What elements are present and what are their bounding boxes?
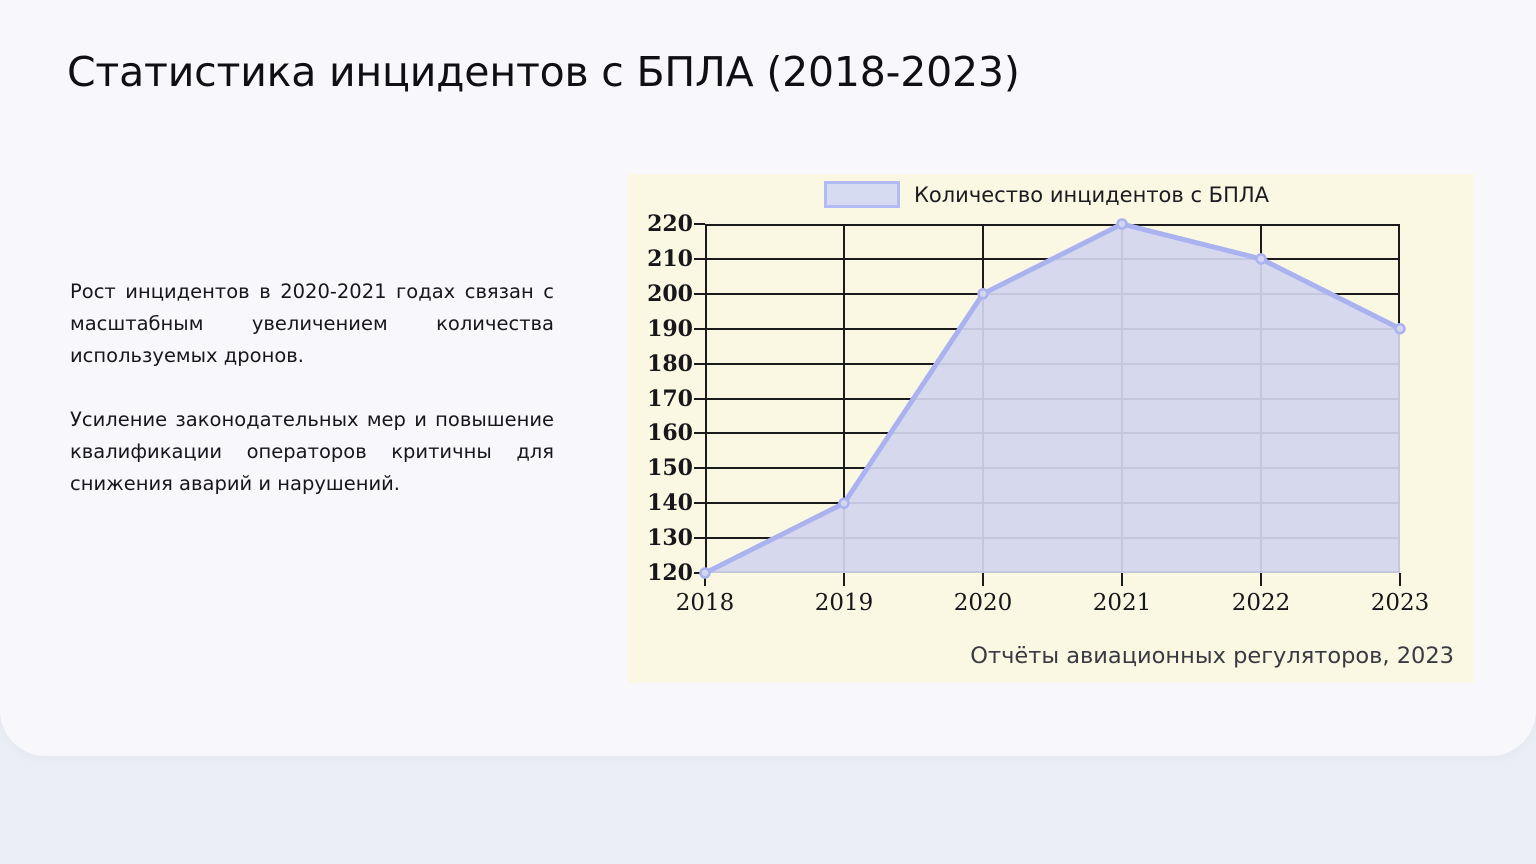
x-axis-tick-mark <box>1260 573 1262 586</box>
x-axis-tick-mark <box>1121 573 1123 586</box>
x-axis-tick-label: 2018 <box>676 590 735 616</box>
series-data-point <box>979 289 988 298</box>
x-axis-tick-label: 2021 <box>1093 590 1152 616</box>
y-axis-tick-mark <box>694 398 705 400</box>
y-axis-tick-mark <box>694 363 705 365</box>
series-data-point <box>1118 220 1127 229</box>
x-axis-tick-mark <box>982 573 984 586</box>
y-axis-tick-mark <box>694 293 705 295</box>
series-data-point <box>840 499 849 508</box>
y-axis-tick-mark <box>694 223 705 225</box>
chart-panel: Количество инцидентов с БПЛА 12013014015… <box>628 174 1474 683</box>
x-axis-tick-label: 2020 <box>954 590 1013 616</box>
y-axis-tick-mark <box>694 502 705 504</box>
chart-plot-area: 1201301401501601701801902002102202018201… <box>705 224 1400 573</box>
body-text-column: Рост инцидентов в 2020-2021 годах связан… <box>70 276 554 500</box>
y-axis-tick-mark <box>694 432 705 434</box>
chart-legend: Количество инцидентов с БПЛА <box>824 181 1269 208</box>
legend-label: Количество инцидентов с БПЛА <box>914 183 1269 207</box>
x-axis-tick-label: 2023 <box>1371 590 1430 616</box>
series-data-point <box>1396 324 1405 333</box>
x-axis-tick-mark <box>1399 573 1401 586</box>
chart-source-caption: Отчёты авиационных регуляторов, 2023 <box>970 643 1454 669</box>
y-axis-tick-mark <box>694 258 705 260</box>
body-paragraph-2: Усиление законодательных мер и повышение… <box>70 404 554 500</box>
slide-root: Статистика инцидентов с БПЛА (2018-2023)… <box>0 0 1536 864</box>
series-data-point <box>701 569 710 578</box>
series-data-point <box>1257 254 1266 263</box>
body-paragraph-1: Рост инцидентов в 2020-2021 годах связан… <box>70 276 554 372</box>
legend-swatch-icon <box>824 181 900 208</box>
x-axis-tick-mark <box>843 573 845 586</box>
y-axis-tick-mark <box>694 328 705 330</box>
x-axis-tick-label: 2019 <box>815 590 874 616</box>
page-title: Статистика инцидентов с БПЛА (2018-2023) <box>67 46 1267 98</box>
series-overlay <box>705 224 1400 573</box>
x-axis-tick-label: 2022 <box>1232 590 1291 616</box>
y-axis-tick-mark <box>694 467 705 469</box>
y-axis-tick-mark <box>694 537 705 539</box>
